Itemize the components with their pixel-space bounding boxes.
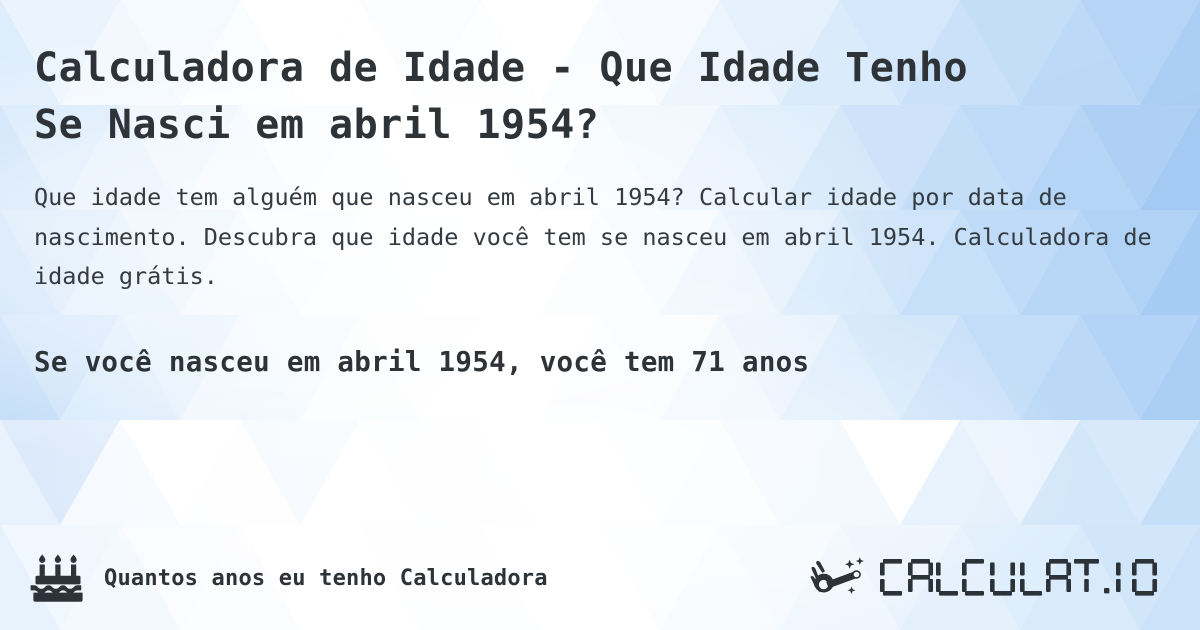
description-text: Que idade tem alguém que nasceu em abril… <box>34 178 1154 298</box>
footer-brand-left: Quantos anos eu tenho Calculadora <box>30 554 548 602</box>
brand-wordmark-calculatio <box>880 557 1166 599</box>
answer-highlight: Se você nasceu em abril 1954, você tem 7… <box>34 345 1166 381</box>
brand-logo[interactable]: CALCULAT.IO <box>810 554 1166 602</box>
page-title: Calculadora de Idade - Que Idade Tenho S… <box>34 40 1034 154</box>
footer-bar: Quantos anos eu tenho Calculadora <box>0 526 1200 630</box>
birthday-cake-icon <box>30 554 86 602</box>
magic-wand-hand-icon <box>810 554 872 602</box>
footer-label: Quantos anos eu tenho Calculadora <box>104 566 548 591</box>
og-preview-card: Calculadora de Idade - Que Idade Tenho S… <box>0 0 1200 630</box>
